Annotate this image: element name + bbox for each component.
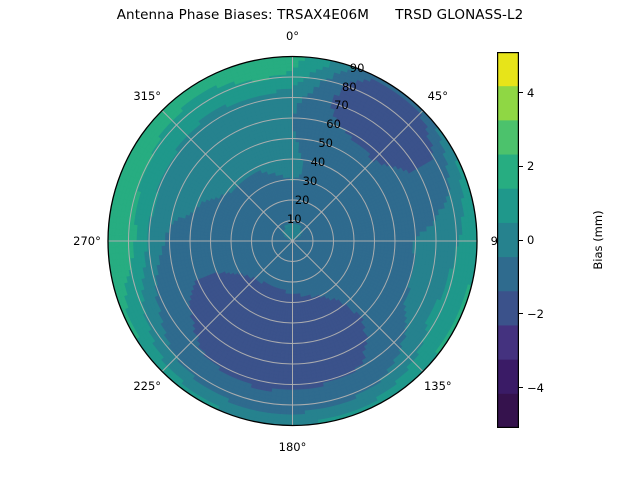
colorbar-axis-label: Bias (mm) <box>548 190 640 290</box>
radial-tick-label-60: 60 <box>326 117 341 131</box>
azimuth-tick-label-315: 315° <box>133 89 161 103</box>
colorbar-tick-mark-1 <box>519 166 523 167</box>
azimuth-tick-label-45: 45° <box>428 89 448 103</box>
colorbar-tick-label-1: 2 <box>527 159 534 173</box>
radial-tick-label-20: 20 <box>295 193 310 207</box>
radial-tick-label-70: 70 <box>334 98 349 112</box>
radial-tick-label-10: 10 <box>287 212 302 226</box>
azimuth-tick-label-135: 135° <box>424 379 452 393</box>
radial-tick-label-30: 30 <box>303 174 318 188</box>
colorbar-tick-label-3: −2 <box>527 307 544 321</box>
colorbar-swatches <box>497 52 519 428</box>
azimuth-tick-label-0: 0° <box>286 29 299 43</box>
azimuth-tick-label-180: 180° <box>279 440 307 454</box>
polar-grid <box>108 57 477 426</box>
radial-tick-label-50: 50 <box>318 136 333 150</box>
azimuth-tick-label-270: 270° <box>73 234 101 248</box>
colorbar-label-text: Bias (mm) <box>591 210 605 269</box>
radial-tick-label-40: 40 <box>311 155 326 169</box>
polar-skyplot[interactable]: 0°45°90135°180°225°270°315°1020304050607… <box>0 0 640 480</box>
colorbar-tick-label-4: −4 <box>527 381 544 395</box>
colorbar-tick-mark-3 <box>519 313 523 314</box>
radial-tick-label-80: 80 <box>342 80 357 94</box>
colorbar[interactable] <box>497 52 519 428</box>
colorbar-tick-mark-2 <box>519 240 523 241</box>
colorbar-tick-mark-4 <box>519 387 523 388</box>
figure-canvas: Antenna Phase Biases: TRSAX4E06M TRSD GL… <box>0 0 640 480</box>
colorbar-tick-mark-0 <box>519 92 523 93</box>
radial-tick-label-90: 90 <box>350 61 365 75</box>
azimuth-tick-label-225: 225° <box>133 379 161 393</box>
colorbar-tick-label-0: 4 <box>527 86 534 100</box>
colorbar-tick-label-2: 0 <box>527 233 534 247</box>
